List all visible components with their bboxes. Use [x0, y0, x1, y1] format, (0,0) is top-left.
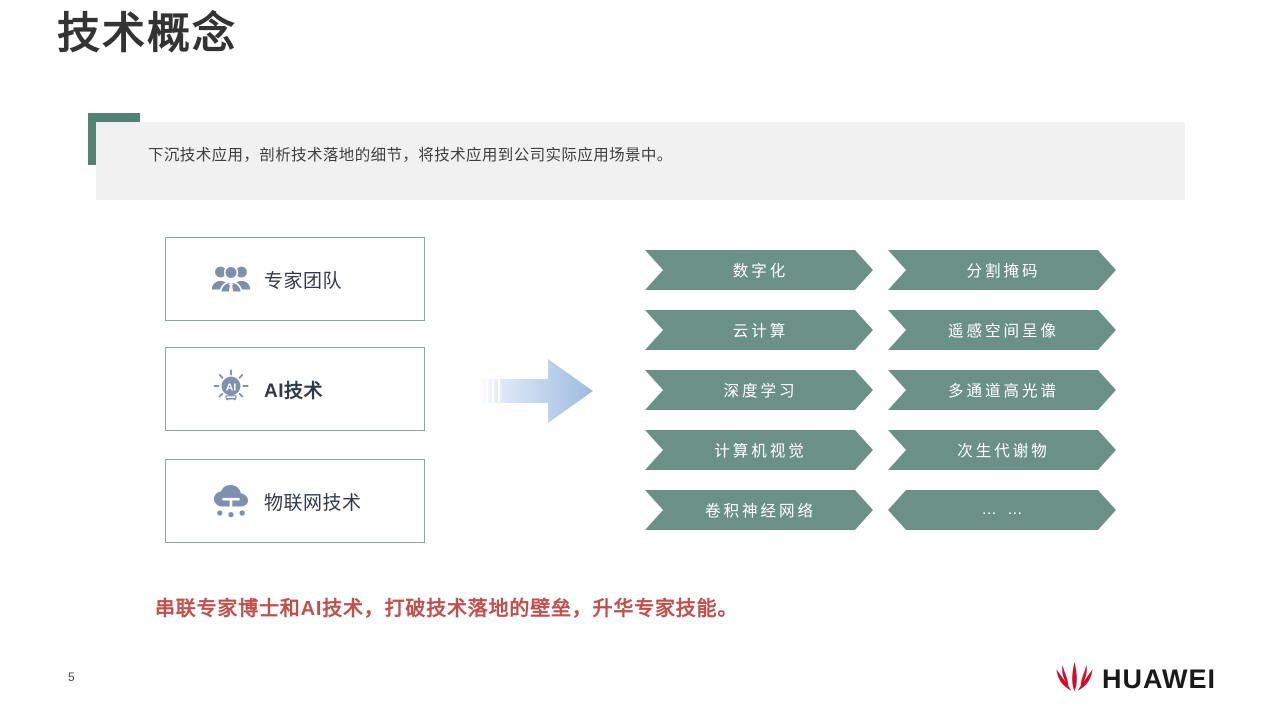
page-number: 5	[68, 670, 75, 684]
capability-card-label: 物联网技术	[264, 488, 362, 515]
tech-tag[interactable]: … …	[888, 490, 1116, 530]
tech-tag[interactable]: 数字化	[645, 250, 873, 290]
brand-lockup: HUAWEI	[1056, 661, 1216, 697]
description-text: 下沉技术应用，剖析技术落地的细节，将技术应用到公司实际应用场景中。	[148, 144, 1148, 167]
ai-lightbulb-icon: AI	[200, 368, 262, 410]
capability-card-expert-team[interactable]: 专家团队	[165, 237, 425, 321]
capability-card-ai[interactable]: AI AI技术	[165, 347, 425, 431]
brand-wordmark: HUAWEI	[1102, 666, 1216, 693]
right-arrow-icon	[480, 357, 595, 425]
page-title: 技术概念	[57, 9, 237, 61]
iot-cloud-network-icon	[200, 483, 262, 519]
slide-canvas: 技术概念 下沉技术应用，剖析技术落地的细节，将技术应用到公司实际应用场景中。 专…	[0, 0, 1278, 714]
highlight-statement: 串联专家博士和AI技术，打破技术落地的壁垒，升华专家技能。	[155, 592, 738, 621]
tech-tag[interactable]: 遥感空间呈像	[888, 310, 1116, 350]
tech-tag[interactable]: 深度学习	[645, 370, 873, 410]
svg-text:AI: AI	[226, 382, 237, 394]
huawei-flower-logo-icon	[1056, 661, 1093, 697]
capability-card-label: AI技术	[264, 376, 323, 403]
tech-tag[interactable]: 计算机视觉	[645, 430, 873, 470]
tech-tag[interactable]: 卷积神经网络	[645, 490, 873, 530]
people-group-icon	[200, 263, 262, 295]
tech-tag[interactable]: 云计算	[645, 310, 873, 350]
tech-tag[interactable]: 多通道高光谱	[888, 370, 1116, 410]
capability-card-label: 专家团队	[264, 266, 342, 293]
tech-tag[interactable]: 次生代谢物	[888, 430, 1116, 470]
tech-tag[interactable]: 分割掩码	[888, 250, 1116, 290]
capability-card-iot[interactable]: 物联网技术	[165, 459, 425, 543]
